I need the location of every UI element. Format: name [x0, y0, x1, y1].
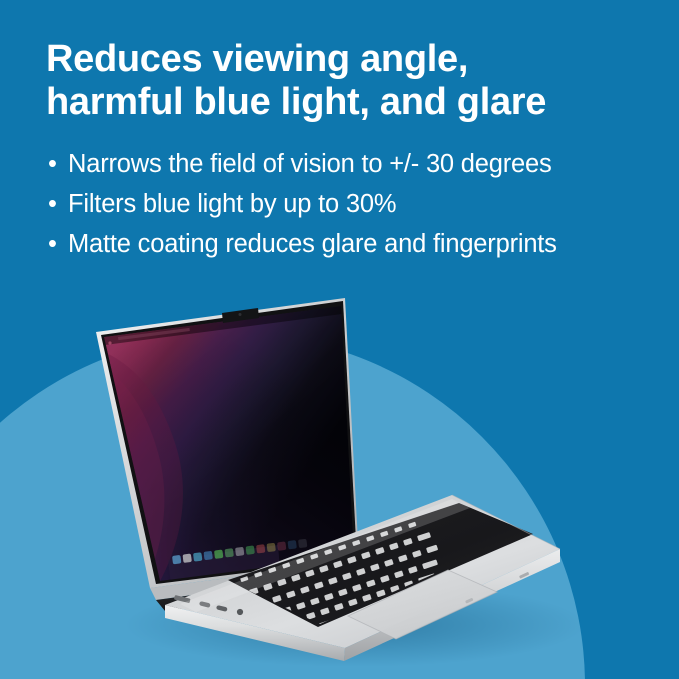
camera-notch — [222, 308, 259, 323]
feature-bullet-list: • Narrows the field of vision to +/- 30 … — [46, 144, 646, 264]
list-item: • Filters blue light by up to 30% — [46, 184, 646, 224]
bullet-marker-icon: • — [48, 224, 57, 264]
page-title: Reduces viewing angle, harmful blue ligh… — [46, 38, 646, 124]
camera-lens — [239, 313, 242, 316]
menu-bar-dot — [108, 341, 111, 344]
background-circle-decoration — [0, 334, 585, 679]
bullet-text: Filters blue light by up to 30% — [68, 190, 396, 218]
bullet-text: Narrows the field of vision to +/- 30 de… — [68, 150, 552, 178]
product-feature-card: Reduces viewing angle, harmful blue ligh… — [0, 0, 679, 679]
list-item: • Narrows the field of vision to +/- 30 … — [46, 144, 646, 184]
bullet-marker-icon: • — [48, 144, 57, 184]
bullet-text: Matte coating reduces glare and fingerpr… — [68, 230, 557, 258]
list-item: • Matte coating reduces glare and finger… — [46, 224, 646, 264]
headline-line-2: harmful blue light, and glare — [46, 81, 646, 124]
headline-line-1: Reduces viewing angle, — [46, 38, 646, 81]
bullet-marker-icon: • — [48, 184, 57, 224]
copy-block: Reduces viewing angle, harmful blue ligh… — [46, 38, 646, 264]
